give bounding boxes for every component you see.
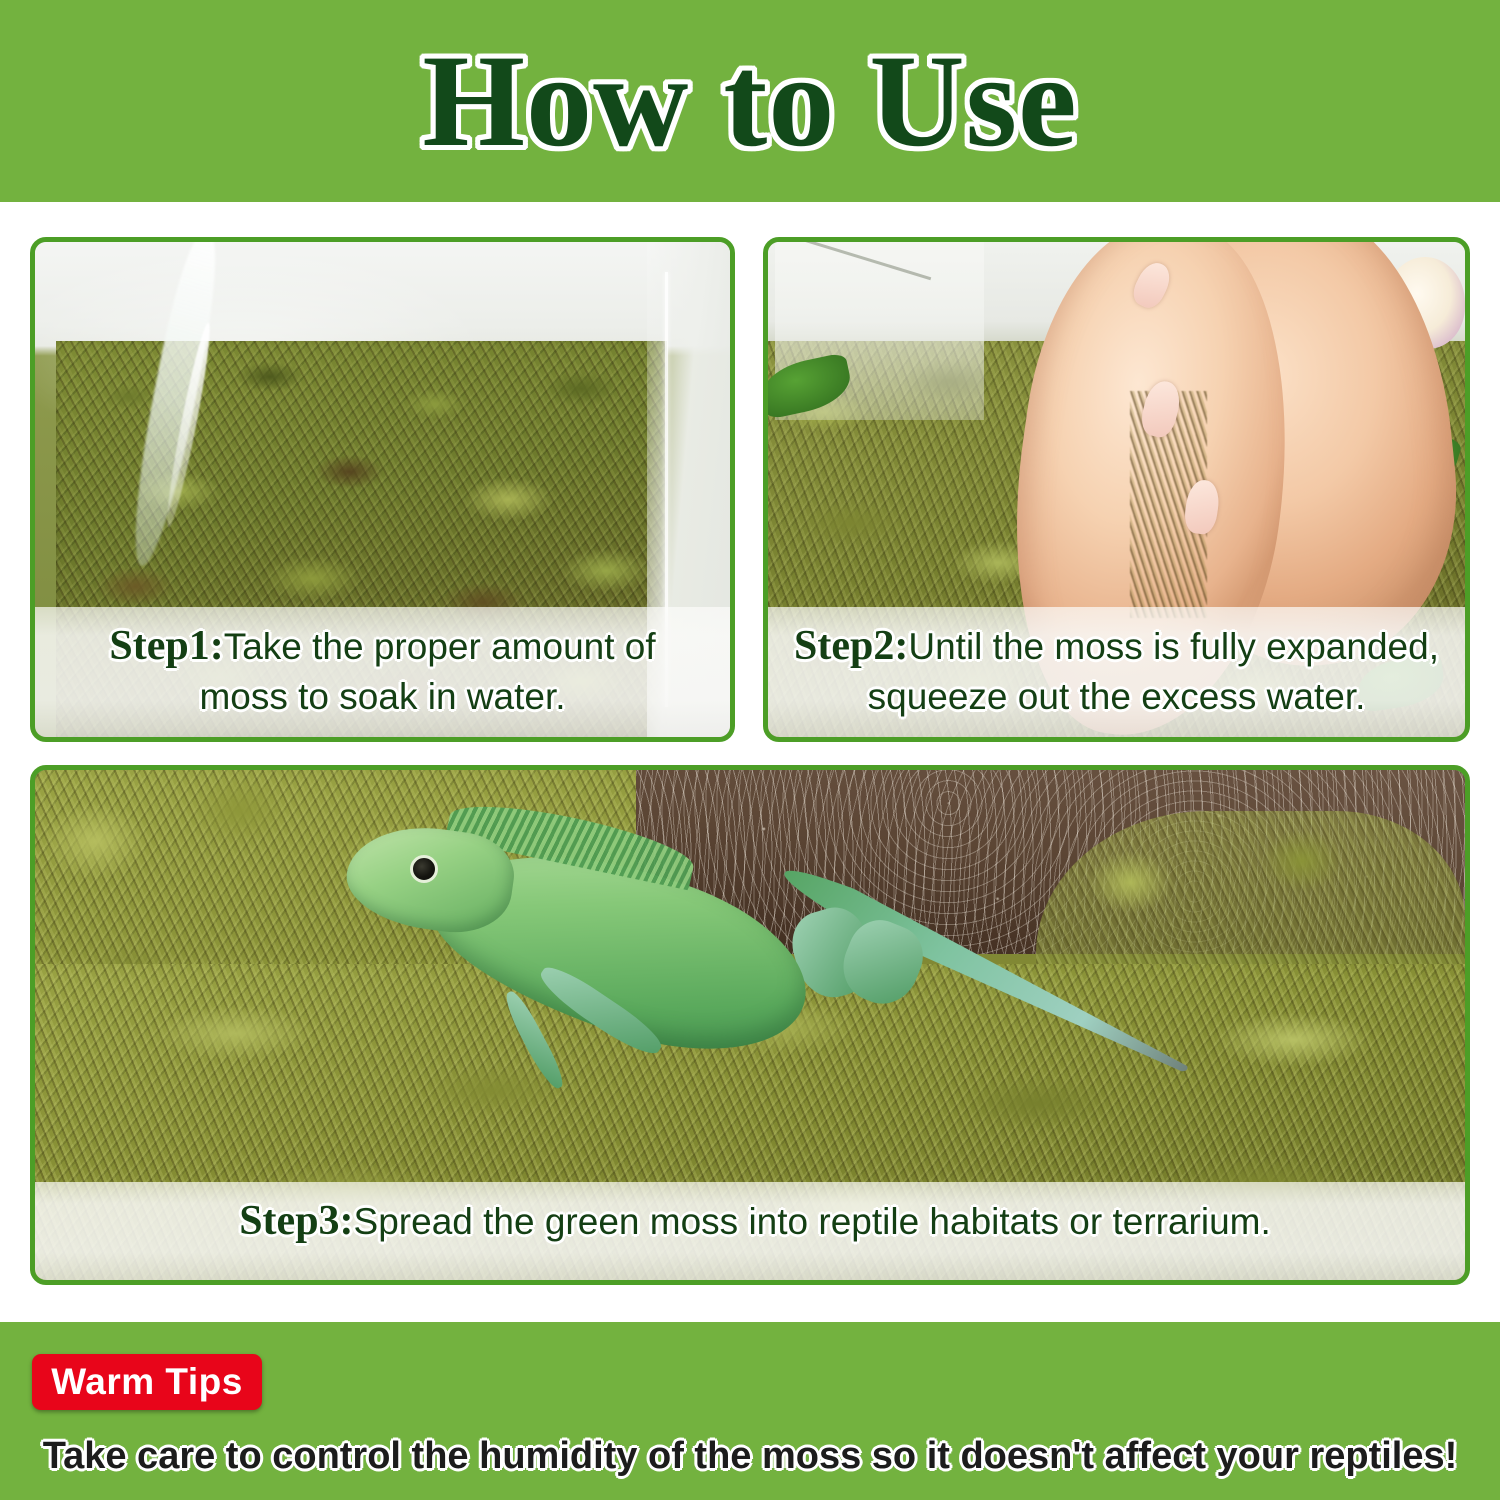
lizard (364, 821, 1193, 1158)
step-2-text-line-1: Until the moss is fully expanded, (908, 626, 1439, 667)
warm-tips-label: Warm Tips (32, 1354, 262, 1410)
page-title: How to Use (0, 26, 1500, 176)
step-card-3: Step3:Spread the green moss into reptile… (30, 765, 1470, 1285)
step-3-caption: Step3:Spread the green moss into reptile… (35, 1182, 1465, 1280)
lizard-eye (410, 855, 438, 883)
step-1-text-line-1: Take the proper amount of (224, 626, 656, 667)
step-card-2: Step2:Until the moss is fully expanded, … (763, 237, 1470, 742)
step-2-line-1: Step2:Until the moss is fully expanded, (768, 621, 1465, 672)
step-1-caption: Step1:Take the proper amount of moss to … (35, 607, 730, 737)
step-1-label: Step1: (109, 623, 223, 669)
step-3-label: Step3: (239, 1198, 353, 1244)
infographic-page: How to Use Step1:Take the proper amount … (0, 0, 1500, 1500)
step-2-label: Step2: (794, 623, 908, 669)
step-1-text-line-2: moss to soak in water. (199, 676, 565, 717)
step-2-caption: Step2:Until the moss is fully expanded, … (768, 607, 1465, 737)
step-2-text-line-2: squeeze out the excess water. (868, 676, 1366, 717)
header-band: How to Use (0, 0, 1500, 202)
step-1-line-1: Step1:Take the proper amount of (35, 621, 730, 672)
step-2-line-2: squeeze out the excess water. (768, 672, 1465, 722)
warm-tips-badge: Warm Tips (32, 1354, 262, 1410)
footer-note: Take care to control the humidity of the… (0, 1432, 1500, 1480)
step-1-line-2: moss to soak in water. (35, 672, 730, 722)
step-card-1: Step1:Take the proper amount of moss to … (30, 237, 735, 742)
step-3-line-1: Step3:Spread the green moss into reptile… (35, 1196, 1465, 1247)
step-3-text-line-1: Spread the green moss into reptile habit… (354, 1201, 1271, 1242)
footer-band: Warm Tips Take care to control the humid… (0, 1322, 1500, 1500)
